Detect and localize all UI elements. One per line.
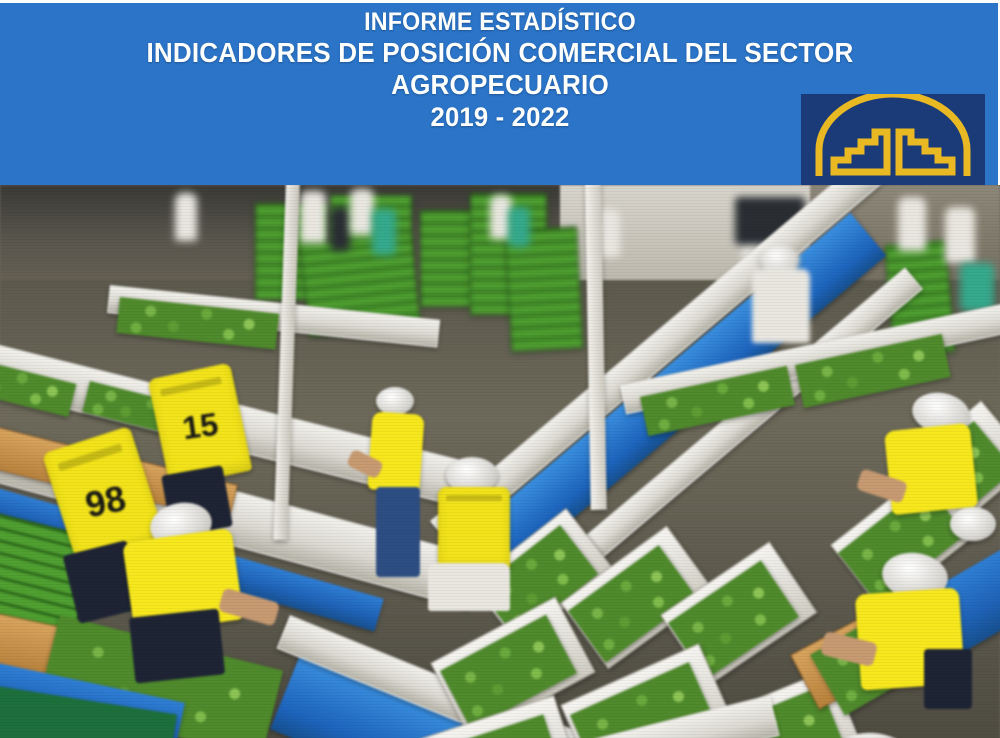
institutional-logo	[801, 94, 985, 185]
vest-number: 98	[56, 472, 155, 532]
vest-number: 15	[156, 402, 244, 450]
background-worker	[175, 193, 197, 241]
title-line-1: INFORME ESTADÍSTICO	[35, 8, 965, 37]
worker-shirt	[367, 411, 424, 492]
background-worker	[300, 191, 326, 243]
worker-trousers	[924, 649, 972, 709]
safety-vest	[438, 487, 510, 571]
hairnet	[376, 387, 414, 415]
background-worker	[508, 207, 530, 247]
background-worker	[960, 263, 994, 311]
title-line-2: INDICADORES DE POSICIÓN COMERCIAL DEL SE…	[35, 37, 965, 69]
worker-trousers	[376, 487, 420, 577]
worker-coat	[752, 269, 810, 343]
photo-scene: 15 98	[0, 185, 1000, 738]
worker-trousers	[129, 608, 225, 683]
background-worker	[898, 197, 926, 251]
vest-strap	[160, 377, 222, 397]
worker-apron	[428, 563, 510, 611]
background-worker	[372, 209, 396, 255]
vest-strap	[446, 495, 502, 501]
vest-strap	[57, 443, 122, 471]
stepped-arch-icon	[801, 94, 985, 185]
background-worker	[330, 207, 350, 251]
bucket	[950, 507, 996, 541]
cover-photograph: 15 98	[0, 185, 1000, 738]
background-worker	[945, 207, 975, 263]
report-cover-page: INFORME ESTADÍSTICO INDICADORES DE POSIC…	[0, 0, 1000, 738]
header-banner: INFORME ESTADÍSTICO INDICADORES DE POSIC…	[0, 3, 998, 185]
background-worker	[350, 189, 374, 235]
